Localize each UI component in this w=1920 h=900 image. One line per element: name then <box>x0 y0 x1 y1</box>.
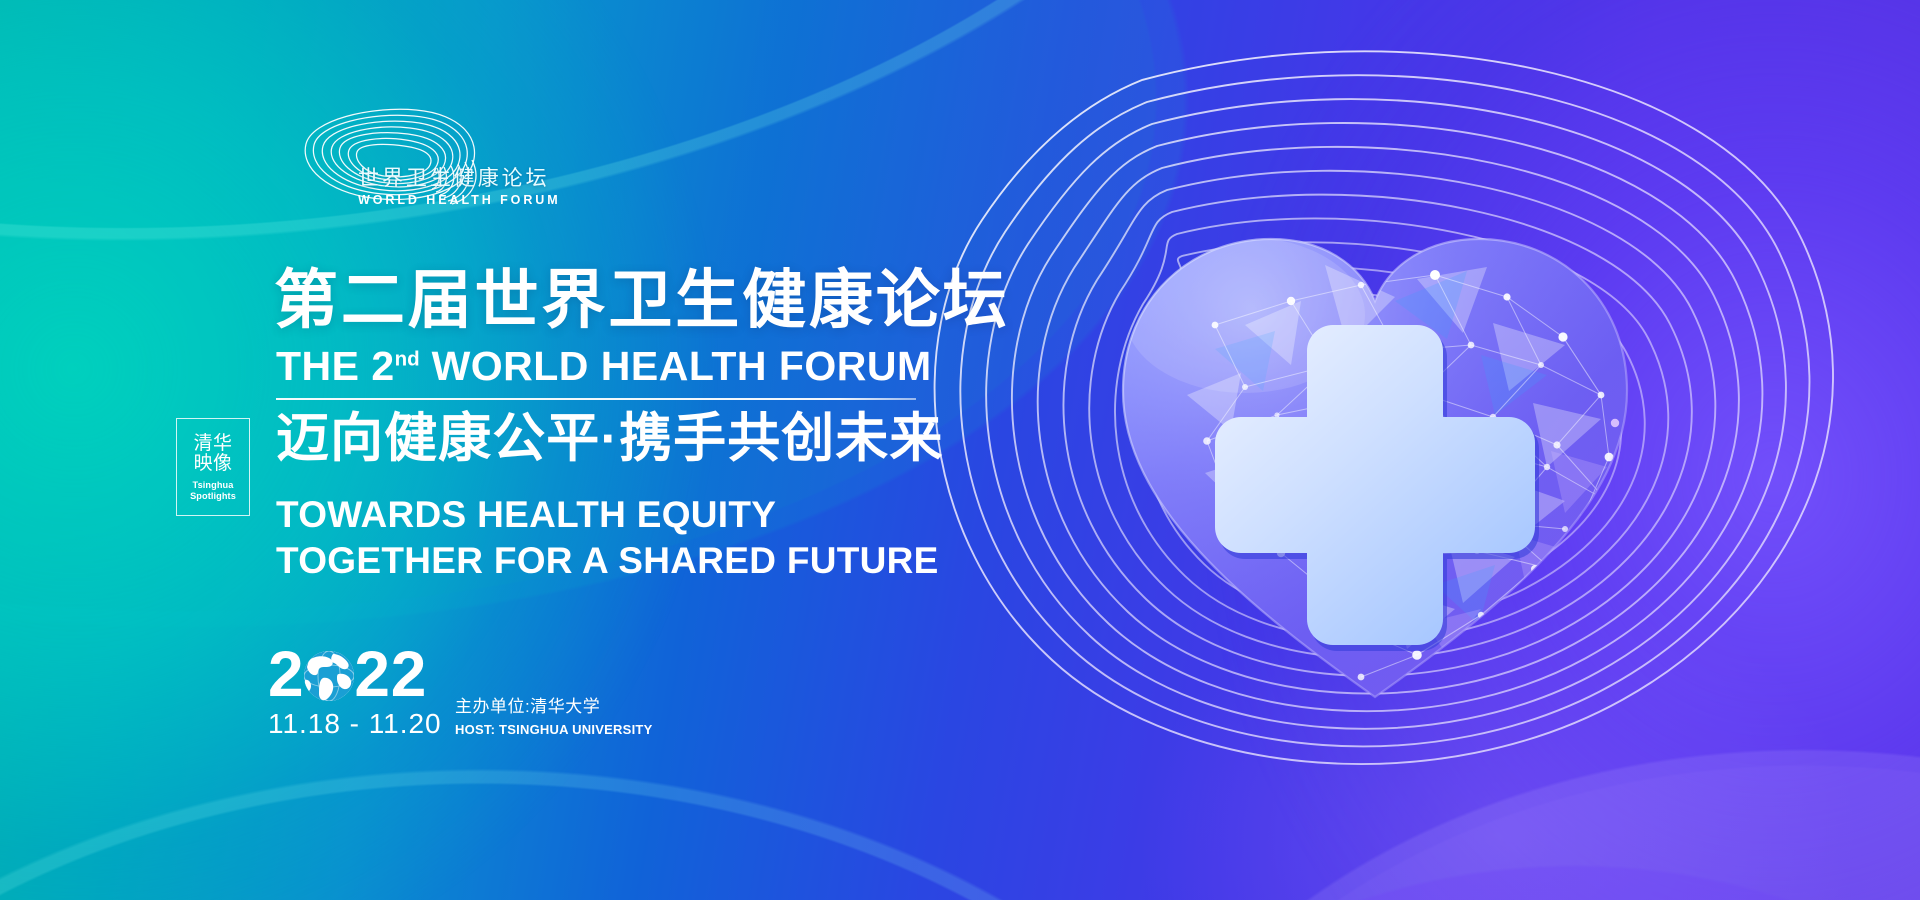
host-block: 主办单位:清华大学 HOST: TSINGHUA UNIVERSITY <box>455 698 653 736</box>
title-en-ordinal: nd <box>395 347 420 370</box>
theme-en-line1: TOWARDS HEALTH EQUITY <box>276 492 939 538</box>
host-name-cn: 主办单位:清华大学 <box>455 698 653 715</box>
year-digit-first: 2 <box>268 642 304 706</box>
event-date-range: 11.18 - 11.20 <box>268 710 468 738</box>
low-poly-heart-graphic <box>1095 205 1655 725</box>
event-year: 2 <box>268 640 468 708</box>
title-en-suffix: WORLD HEALTH FORUM <box>420 343 932 389</box>
event-title-cn: 第二届世界卫生健康论坛 <box>274 268 1010 332</box>
banner-content: 世界卫生健康论坛 WORLD HEALTH FORUM 第二届世界卫生健康论坛 … <box>0 0 1000 900</box>
event-banner: 世界卫生健康论坛 WORLD HEALTH FORUM 第二届世界卫生健康论坛 … <box>0 0 1920 900</box>
event-title-en: THE 2nd WORLD HEALTH FORUM <box>276 346 932 387</box>
event-date-block: 2 <box>268 640 468 738</box>
badge-en-line1: Tsinghua <box>190 480 236 491</box>
event-theme-cn: 迈向健康公平·携手共创未来 <box>276 412 943 465</box>
badge-en-line2: Spotlights <box>190 491 236 502</box>
badge-cn-line2: 映像 <box>194 454 233 475</box>
badge-text-cn: 清华 映像 <box>194 434 233 475</box>
badge-text-en: Tsinghua Spotlights <box>190 480 236 502</box>
globe-icon <box>303 650 355 702</box>
title-en-prefix: THE 2 <box>276 343 395 389</box>
logo-name-en: WORLD HEALTH FORUM <box>358 194 561 207</box>
title-divider <box>276 398 916 400</box>
tsinghua-spotlights-badge: 清华 映像 Tsinghua Spotlights <box>176 418 250 516</box>
year-digits-last: 22 <box>354 642 427 706</box>
theme-en-line2: TOGETHER FOR A SHARED FUTURE <box>276 538 939 584</box>
logo-name-cn: 世界卫生健康论坛 <box>358 168 561 189</box>
badge-cn-line1: 清华 <box>194 434 233 455</box>
host-name-en: HOST: TSINGHUA UNIVERSITY <box>455 723 653 736</box>
logo-wordmark: 世界卫生健康论坛 WORLD HEALTH FORUM <box>358 168 561 207</box>
event-theme-en: TOWARDS HEALTH EQUITY TOGETHER FOR A SHA… <box>276 492 939 585</box>
